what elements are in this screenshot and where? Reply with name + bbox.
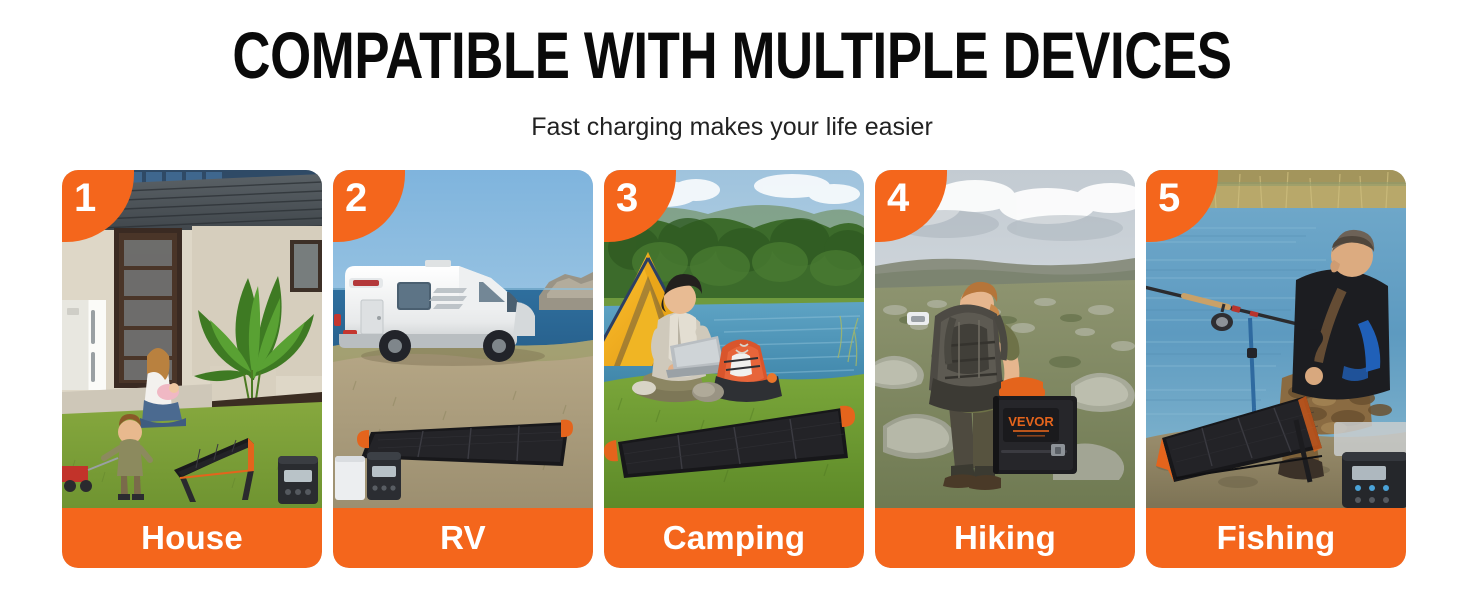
card-number: 2 <box>345 175 367 221</box>
card-label-text: Hiking <box>954 521 1056 555</box>
page-title: COMPATIBLE WITH MULTIPLE DEVICES <box>146 22 1317 88</box>
vevor-brand-text: VEVOR <box>1008 414 1054 429</box>
card-label-text: House <box>141 521 243 555</box>
card-number: 3 <box>616 175 638 221</box>
card-label-text: Camping <box>663 521 806 555</box>
card-number: 1 <box>74 175 96 221</box>
card-label-text: Fishing <box>1217 521 1336 555</box>
card-number: 5 <box>1158 175 1180 221</box>
card-label-bar: Camping <box>604 508 864 568</box>
scenario-card-house[interactable]: 1 House <box>62 170 322 568</box>
scenario-card-grid: 1 House <box>62 170 1403 568</box>
card-label-bar: House <box>62 508 322 568</box>
page-subtitle: Fast charging makes your life easier <box>0 112 1464 142</box>
card-label-text: RV <box>440 521 486 555</box>
card-number: 4 <box>887 175 909 221</box>
promo-banner: COMPATIBLE WITH MULTIPLE DEVICES Fast ch… <box>0 0 1464 600</box>
scenario-card-rv[interactable]: 2 RV <box>333 170 593 568</box>
card-label-bar: Hiking <box>875 508 1135 568</box>
scenario-card-hiking[interactable]: VEVOR 4 Hiking <box>875 170 1135 568</box>
card-label-bar: Fishing <box>1146 508 1406 568</box>
scenario-card-camping[interactable]: 3 Camping <box>604 170 864 568</box>
card-label-bar: RV <box>333 508 593 568</box>
scenario-card-fishing[interactable]: 5 Fishing <box>1146 170 1406 568</box>
